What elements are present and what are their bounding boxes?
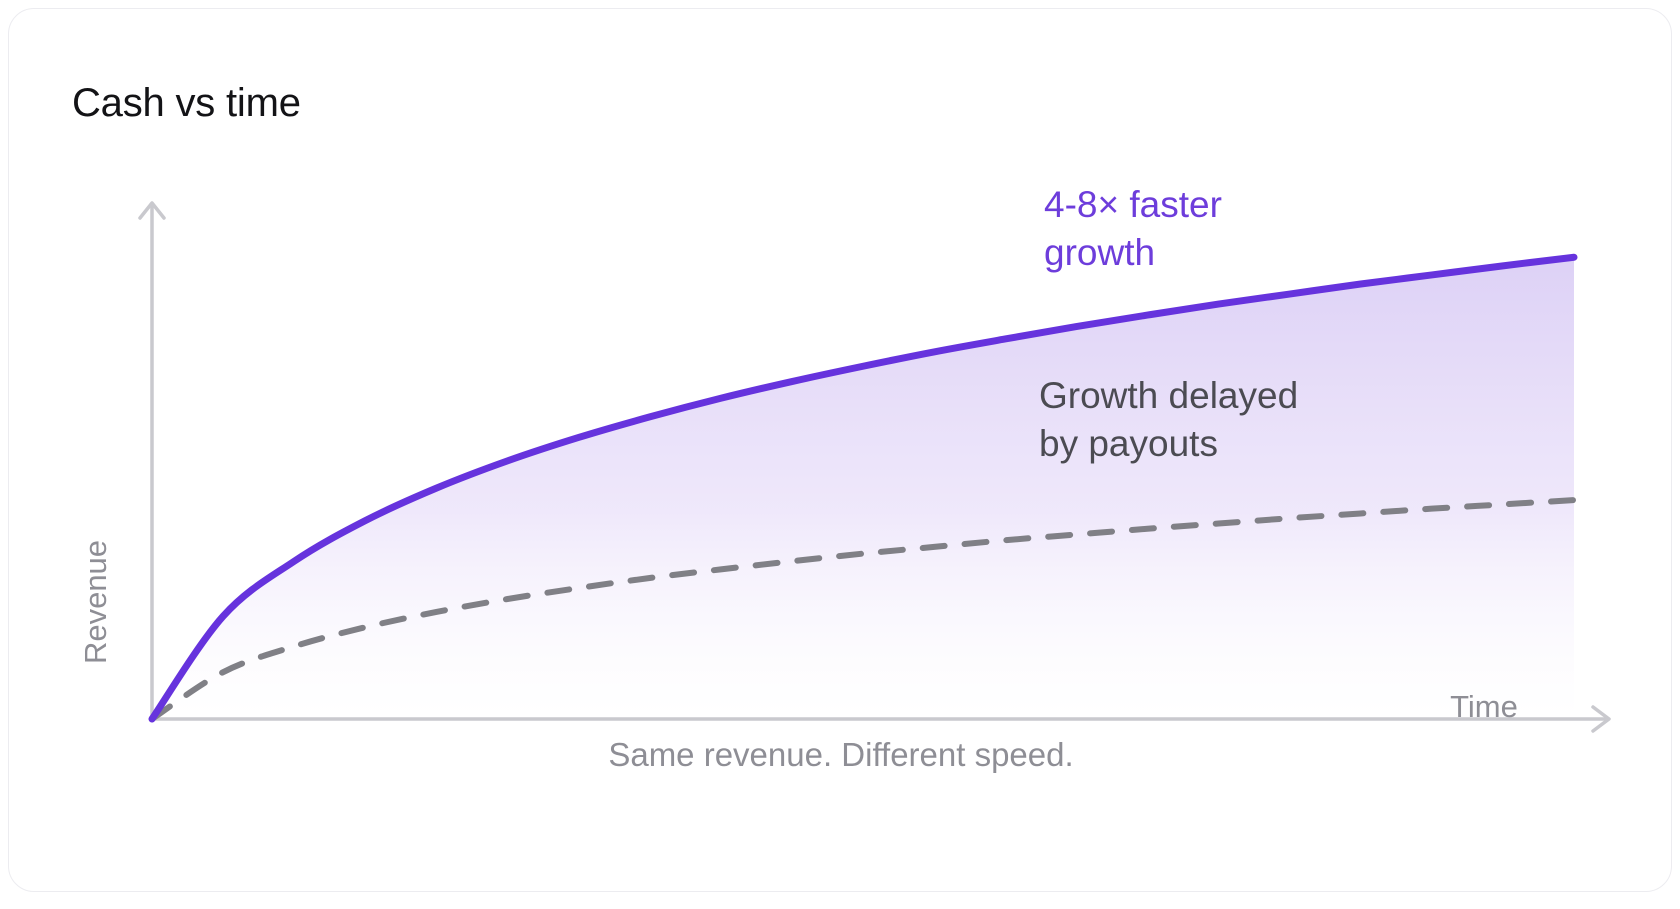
area-fill-fast-growth xyxy=(152,257,1574,719)
x-axis-label: Time xyxy=(1409,689,1559,725)
y-axis-label: Revenue xyxy=(78,507,114,697)
chart-card: Cash vs time 4-8× faster growth Growth d… xyxy=(8,8,1672,892)
chart-caption: Same revenue. Different speed. xyxy=(9,736,1672,774)
annotation-faster-growth: 4-8× faster growth xyxy=(1044,181,1222,277)
annotation-growth-delayed: Growth delayed by payouts xyxy=(1039,372,1298,468)
